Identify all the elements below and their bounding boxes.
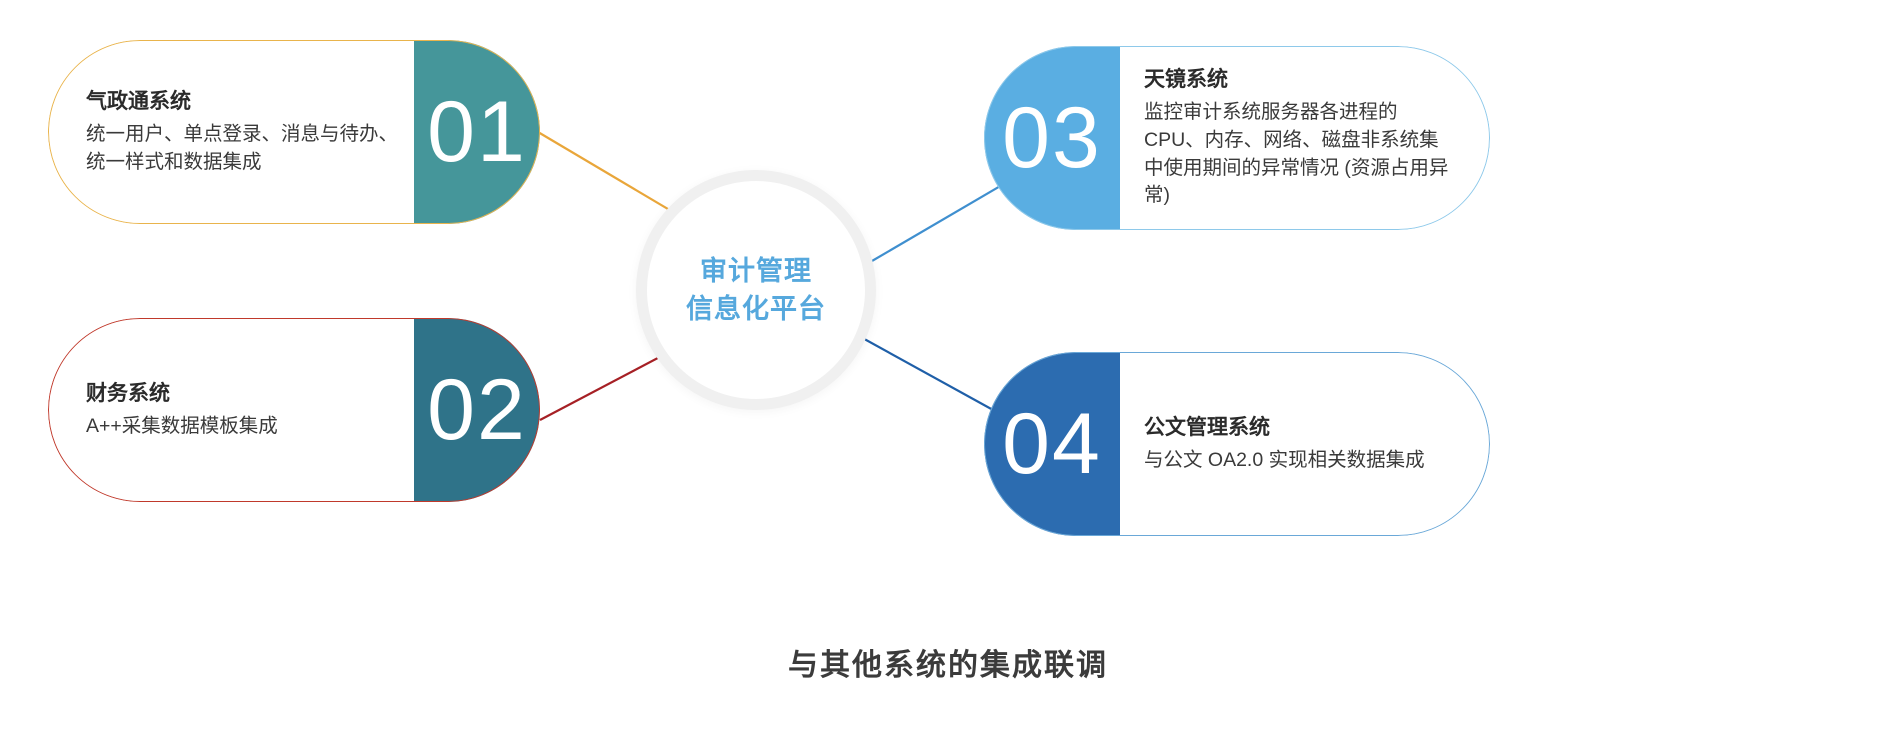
card-01-number-badge: 01 xyxy=(414,40,540,224)
card-02[interactable]: 财务系统 A++采集数据模板集成 02 xyxy=(48,318,540,502)
card-03-pill: 03 天镜系统 监控审计系统服务器各进程的CPU、内存、网络、磁盘非系统集中使用… xyxy=(984,46,1490,230)
center-title-line2: 信息化平台 xyxy=(686,290,826,328)
card-04-number-badge: 04 xyxy=(984,352,1120,536)
card-03[interactable]: 03 天镜系统 监控审计系统服务器各进程的CPU、内存、网络、磁盘非系统集中使用… xyxy=(984,46,1490,230)
diagram-canvas: 审计管理 信息化平台 气政通系统 统一用户、单点登录、消息与待办、统一样式和数据… xyxy=(0,0,1896,748)
card-02-title: 财务系统 xyxy=(86,380,408,407)
card-04-pill: 04 公文管理系统 与公文 OA2.0 实现相关数据集成 xyxy=(984,352,1490,536)
card-01-body: 气政通系统 统一用户、单点登录、消息与待办、统一样式和数据集成 xyxy=(48,40,414,224)
card-01[interactable]: 气政通系统 统一用户、单点登录、消息与待办、统一样式和数据集成 01 xyxy=(48,40,540,224)
card-03-title: 天镜系统 xyxy=(1144,66,1456,93)
card-03-number-badge: 03 xyxy=(984,46,1120,230)
card-01-title: 气政通系统 xyxy=(86,88,408,115)
card-01-pill: 气政通系统 统一用户、单点登录、消息与待办、统一样式和数据集成 01 xyxy=(48,40,540,224)
card-03-body: 天镜系统 监控审计系统服务器各进程的CPU、内存、网络、磁盘非系统集中使用期间的… xyxy=(1120,46,1490,230)
card-04-desc: 与公文 OA2.0 实现相关数据集成 xyxy=(1144,447,1456,475)
card-02-pill: 财务系统 A++采集数据模板集成 02 xyxy=(48,318,540,502)
card-04[interactable]: 04 公文管理系统 与公文 OA2.0 实现相关数据集成 xyxy=(984,352,1490,536)
card-04-title: 公文管理系统 xyxy=(1144,414,1456,441)
card-02-body: 财务系统 A++采集数据模板集成 xyxy=(48,318,414,502)
card-03-desc: 监控审计系统服务器各进程的CPU、内存、网络、磁盘非系统集中使用期间的异常情况 … xyxy=(1144,99,1456,210)
card-01-desc: 统一用户、单点登录、消息与待办、统一样式和数据集成 xyxy=(86,121,408,176)
diagram-caption: 与其他系统的集成联调 xyxy=(0,640,1896,684)
center-node: 审计管理 信息化平台 xyxy=(636,170,876,410)
card-04-body: 公文管理系统 与公文 OA2.0 实现相关数据集成 xyxy=(1120,352,1490,536)
card-02-desc: A++采集数据模板集成 xyxy=(86,413,408,441)
card-02-number-badge: 02 xyxy=(414,318,540,502)
center-title-line1: 审计管理 xyxy=(700,252,812,290)
